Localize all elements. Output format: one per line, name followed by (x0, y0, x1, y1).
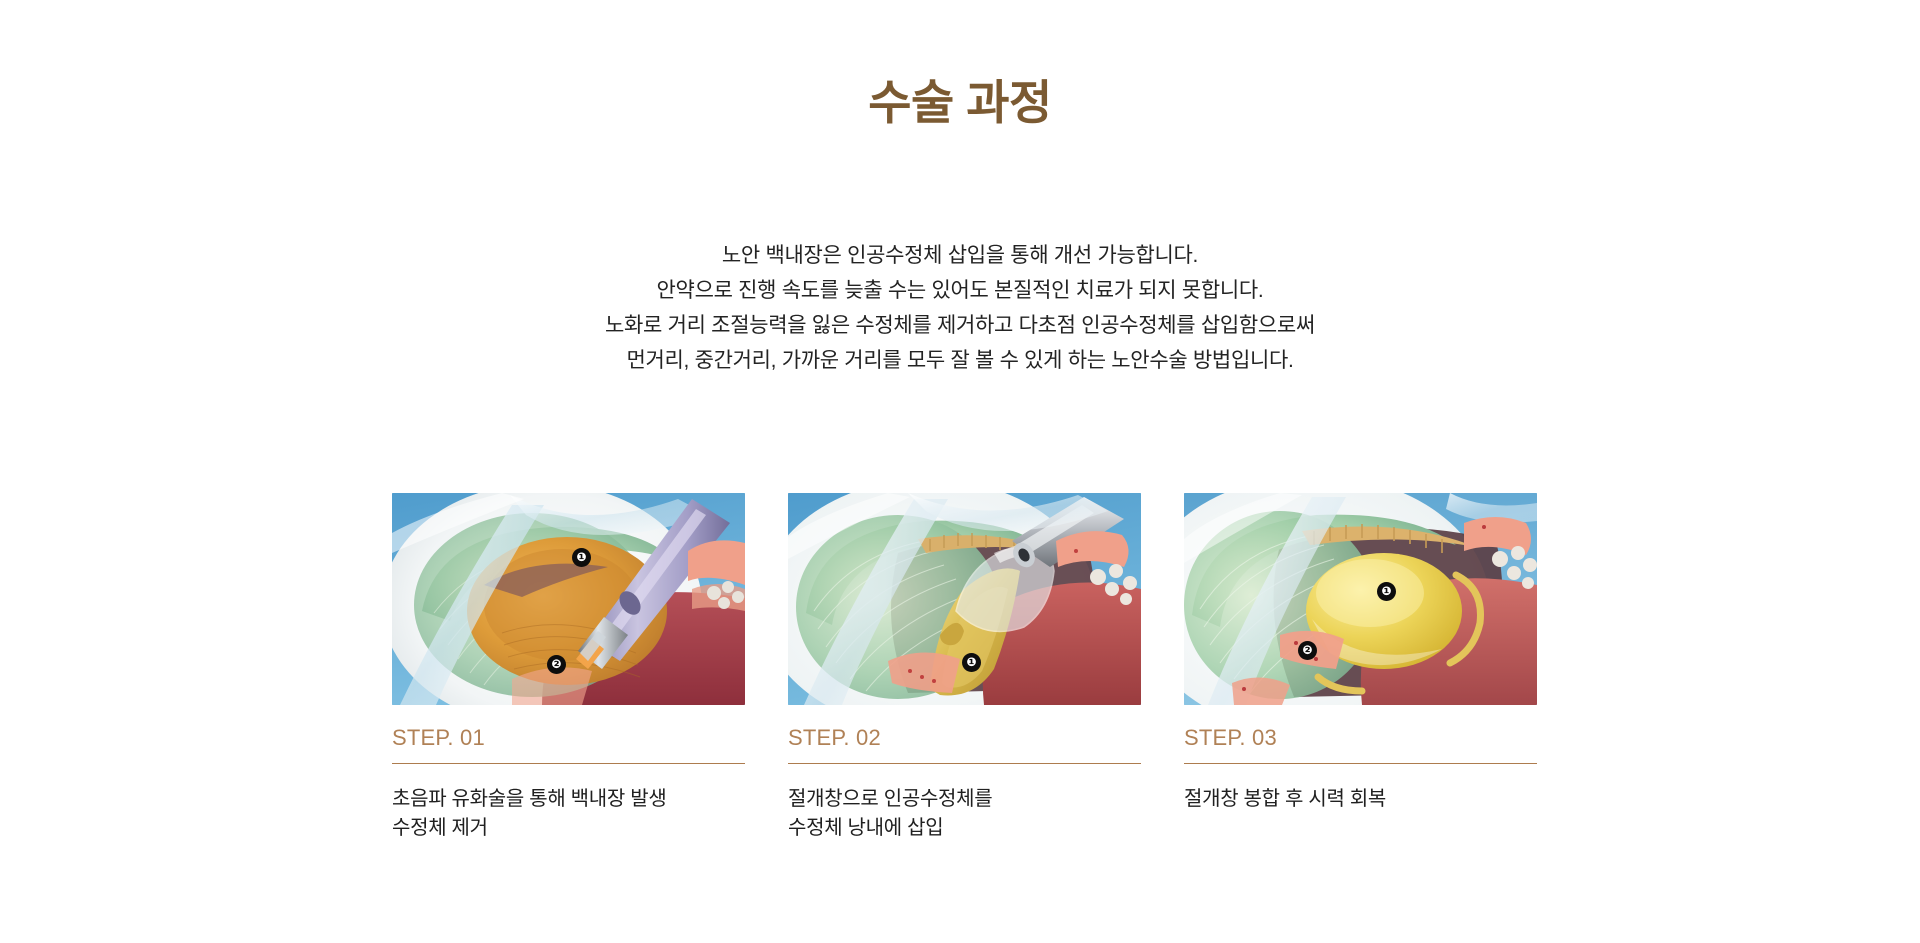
step-divider-02 (788, 763, 1141, 764)
incision-closure-illustration: ❶ ❷ (1184, 493, 1537, 705)
step-card-03: ❶ ❷ STEP. 03 절개창 봉합 후 시력 회복 (1184, 493, 1537, 843)
figure-badge-1: ❶ (1377, 582, 1396, 601)
step-desc-line: 초음파 유화술을 통해 백내장 발생 (392, 785, 745, 814)
step-desc-line: 절개창 봉합 후 시력 회복 (1184, 785, 1537, 814)
step-divider-03 (1184, 763, 1537, 764)
page-title: 수술 과정 (0, 74, 1920, 133)
step-card-01: ❶ ❷ STEP. 01 초음파 유화술을 통해 백내장 발생 수정체 제거 (392, 493, 745, 843)
step-card-02: ❶ STEP. 02 절개창으로 인공수정체를 수정체 낭내에 삽입 (788, 493, 1141, 843)
step-desc-line: 수정체 낭내에 삽입 (788, 814, 1141, 843)
intro-line-3: 노화로 거리 조절능력을 잃은 수정체를 제거하고 다초점 인공수정체를 삽입함… (0, 308, 1920, 343)
intro-line-4: 먼거리, 중간거리, 가까운 거리를 모두 잘 볼 수 있게 하는 노안수술 방… (0, 343, 1920, 378)
figure-badge-1: ❶ (962, 653, 981, 672)
figure-badge-2: ❷ (1298, 641, 1317, 660)
iol-insertion-illustration: ❶ (788, 493, 1141, 705)
phacoemulsification-illustration: ❶ ❷ (392, 493, 745, 705)
step-desc-line: 절개창으로 인공수정체를 (788, 785, 1141, 814)
step-label-02: STEP. 02 (788, 725, 1141, 751)
step-description-02: 절개창으로 인공수정체를 수정체 낭내에 삽입 (788, 785, 1141, 843)
intro-paragraph: 노안 백내장은 인공수정체 삽입을 통해 개선 가능합니다. 안약으로 진행 속… (0, 238, 1920, 378)
figure-badge-1: ❶ (572, 548, 591, 567)
step-desc-line: 수정체 제거 (392, 814, 745, 843)
intro-line-1: 노안 백내장은 인공수정체 삽입을 통해 개선 가능합니다. (0, 238, 1920, 273)
step-divider-01 (392, 763, 745, 764)
intro-line-2: 안약으로 진행 속도를 늦출 수는 있어도 본질적인 치료가 되지 못합니다. (0, 273, 1920, 308)
steps-list: ❶ ❷ STEP. 01 초음파 유화술을 통해 백내장 발생 수정체 제거 (392, 493, 1538, 843)
step-label-01: STEP. 01 (392, 725, 745, 751)
step-description-03: 절개창 봉합 후 시력 회복 (1184, 785, 1537, 814)
figure-badge-2: ❷ (547, 655, 566, 674)
step-description-01: 초음파 유화술을 통해 백내장 발생 수정체 제거 (392, 785, 745, 843)
surgery-process-section: 수술 과정 노안 백내장은 인공수정체 삽입을 통해 개선 가능합니다. 안약으… (0, 0, 1920, 943)
step-label-03: STEP. 03 (1184, 725, 1537, 751)
